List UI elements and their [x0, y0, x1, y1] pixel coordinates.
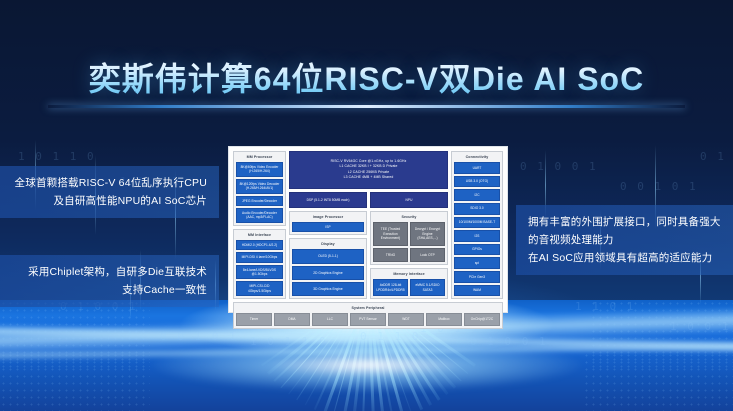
binary-decoration: 0 1 0 0 1 [470, 335, 548, 348]
callout-left-bottom-text: 采用Chiplet架构，自研多Die互联技术支持Cache一致性 [28, 266, 207, 296]
mm-interface-block-2: MIPI-DSI 4 lane/10Gbps [236, 252, 283, 262]
group-memory-interface: Memory Interface 4xDDR 128-bit LPDDR4x/L… [370, 268, 448, 299]
system-peripheral-block-7: OnChip@1T2C [464, 313, 500, 325]
display-block-2: 2D Graphics Engine [292, 266, 364, 280]
connectivity-block-1: UART [454, 162, 500, 174]
callout-left-top: 全球首颗搭载RISC-V 64位乱序执行CPU及自研高性能NPU的AI SoC芯… [0, 166, 219, 218]
binary-decoration: 0 0 1 0 1 [160, 330, 238, 343]
page-title: 奕斯伟计算64位RISC-V双Die AI SoC [89, 54, 644, 100]
binary-decoration: 1 0 1 1 0 [18, 150, 96, 163]
mm-processor-block-1: 8K@60fps Video Encoder (H.265/H.264) [236, 162, 283, 177]
connectivity-block-5: 10/100M/1000M BASE-T [454, 217, 500, 229]
binary-decoration: 0 1 0 0 1 [520, 160, 598, 173]
group-mm-interface: MM Interface HDMI2.0 (HDCP1.4/2.2)MIPI-D… [233, 229, 286, 299]
group-title-mm-interface: MM Interface [236, 232, 283, 238]
diagram-main-row: MM Processor 8K@60fps Video Encoder (H.2… [233, 151, 503, 299]
binary-decoration: 1 0 1 1 0 [250, 335, 328, 348]
group-title-security: Security [373, 214, 445, 220]
security-block-1: TEE (Trusted Execution Environment) [373, 222, 408, 246]
callout-left-top-text: 全球首颗搭载RISC-V 64位乱序执行CPU及自研高性能NPU的AI SoC芯… [15, 177, 207, 207]
mm-interface-blocks: HDMI2.0 (HDCP1.4/2.2)MIPI-DSI 4 lane/10G… [236, 240, 283, 296]
connectivity-block-4: SDIO 3.0 [454, 203, 500, 215]
dsp-npu-row: DSP (5.1-2 INT8 50MB each)NPU [289, 192, 448, 208]
connectivity-block-3: I2C [454, 189, 500, 201]
memory-block-1: 4xDDR 128-bit LPDDR4x/LPDDR5 [373, 279, 408, 296]
connectivity-block-2: USB 3.0 (OTG) [454, 176, 500, 188]
memory-interface-blocks: 4xDDR 128-bit LPDDR4x/LPDDR5eMMC 5.1/SDI… [373, 279, 445, 296]
mm-processor-block-2: 8K@120fps Video Decoder (H.265/H.264/AV1… [236, 179, 283, 194]
mm-interface-block-4: MIPI-CSI-C/D 4Gbps/1.5Gbps [236, 281, 283, 296]
diagram-right-column: Connectivity UARTUSB 3.0 (OTG)I2CSDIO 3.… [451, 151, 503, 299]
system-peripheral-block-6: Mailbox [426, 313, 462, 325]
connectivity-block-7: GPIOs [454, 244, 500, 256]
callout-right: 拥有丰富的外围扩展接口，同时具备强大的音视频处理能力在AI SoC应用领域具有超… [516, 205, 733, 275]
group-mm-processor: MM Processor 8K@60fps Video Encoder (H.2… [233, 151, 286, 226]
page-title-container: 奕斯伟计算64位RISC-V双Die AI SoC [0, 54, 733, 100]
display-block-1: OLED (5-1-1) [292, 249, 364, 263]
slide-root: 1 0 1 1 00 1 0 0 11 1 0 10 0 1 0 11 0 0 … [0, 0, 733, 411]
connectivity-block-6: I2S [454, 230, 500, 242]
connectivity-block-8: spi [454, 257, 500, 269]
group-system-peripheral: System Peripheral TimerDMALLCPVT SensorW… [233, 302, 503, 328]
connectivity-block-9: PCIe Gen3 [454, 271, 500, 283]
mm-processor-blocks: 8K@60fps Video Encoder (H.265/H.264)8K@1… [236, 162, 283, 223]
compute-block-1: DSP (5.1-2 INT8 50MB each) [289, 192, 367, 208]
mm-processor-block-4: Audio Encoder/Decoder (AAC, mp3/FLAC) [236, 208, 283, 223]
mm-interface-block-1: HDMI2.0 (HDCP1.4/2.2) [236, 240, 283, 250]
group-title-display: Display [292, 241, 364, 247]
group-title-connectivity: Connectivity [454, 154, 500, 160]
security-block-2: Decrypt / Encrypt Engine (SHA,AES,...) [410, 222, 445, 246]
security-block-3: TRNG [373, 248, 408, 263]
binary-decoration: 0 1 1 0 [360, 330, 420, 343]
connectivity-block-10: WAM [454, 285, 500, 297]
group-title-mm-processor: MM Processor [236, 154, 283, 160]
image-processor-blocks: ISP [292, 222, 364, 232]
binary-decoration: 0 0 1 0 1 [620, 180, 698, 193]
group-security: Security TEE (Trusted Execution Environm… [370, 211, 448, 265]
system-peripheral-block-4: PVT Sensor [350, 313, 386, 325]
display-block-3: 3D Graphics Engine [292, 282, 364, 296]
system-peripheral-blocks: TimerDMALLCPVT SensorWDTMailboxOnChip@1T… [236, 313, 500, 325]
group-display: Display OLED (5-1-1)2D Graphics Engine3D… [289, 238, 367, 299]
binary-decoration: 0 1 1 0 [700, 150, 733, 163]
mm-interface-block-3: 8x4-lane/LVDS/BLVDS @1.5Gbps [236, 265, 283, 280]
memory-block-2: eMMC 5.1/SDIO SATA3 [410, 279, 445, 296]
system-peripheral-block-3: LLC [312, 313, 348, 325]
diagram-middle-column: RISC-V RV64GC Core @1.xGHz, up to 1.6GHz… [289, 151, 448, 299]
diagram-mid-lower: Image Processor ISP Display OLED (5-1-1)… [289, 211, 448, 299]
dot-grid-decoration [0, 300, 150, 370]
group-image-processor: Image Processor ISP [289, 211, 367, 235]
compute-block-2: NPU [370, 192, 448, 208]
security-memory-column: Security TEE (Trusted Execution Environm… [370, 211, 448, 299]
title-divider [48, 105, 685, 108]
dot-grid-decoration [590, 300, 733, 370]
system-peripheral-block-1: Timer [236, 313, 272, 325]
diagram-left-column: MM Processor 8K@60fps Video Encoder (H.2… [233, 151, 286, 299]
group-title-system-peripheral: System Peripheral [236, 305, 500, 311]
security-blocks: TEE (Trusted Execution Environment)Decry… [373, 222, 445, 262]
display-blocks: OLED (5-1-1)2D Graphics Engine3D Graphic… [292, 249, 364, 296]
callout-left-bottom: 采用Chiplet架构，自研多Die互联技术支持Cache一致性 [0, 255, 219, 307]
group-connectivity: Connectivity UARTUSB 3.0 (OTG)I2CSDIO 3.… [451, 151, 503, 299]
group-title-memory-interface: Memory Interface [373, 271, 445, 277]
system-peripheral-block-2: DMA [274, 313, 310, 325]
group-title-image-processor: Image Processor [292, 214, 364, 220]
image-processor-block-1: ISP [292, 222, 364, 232]
soc-block-diagram: MM Processor 8K@60fps Video Encoder (H.2… [228, 146, 508, 313]
connectivity-blocks: UARTUSB 3.0 (OTG)I2CSDIO 3.010/100M/1000… [454, 162, 500, 296]
image-display-column: Image Processor ISP Display OLED (5-1-1)… [289, 211, 367, 299]
callout-right-text: 拥有丰富的外围扩展接口，同时具备强大的音视频处理能力在AI SoC应用领域具有超… [528, 216, 721, 264]
cpu-cluster-block: RISC-V RV64GC Core @1.xGHz, up to 1.6GHz… [289, 151, 448, 189]
mm-processor-block-3: JPEG Encoder/Decoder [236, 196, 283, 206]
system-peripheral-block-5: WDT [388, 313, 424, 325]
security-block-4: Lock OTP [410, 248, 445, 263]
